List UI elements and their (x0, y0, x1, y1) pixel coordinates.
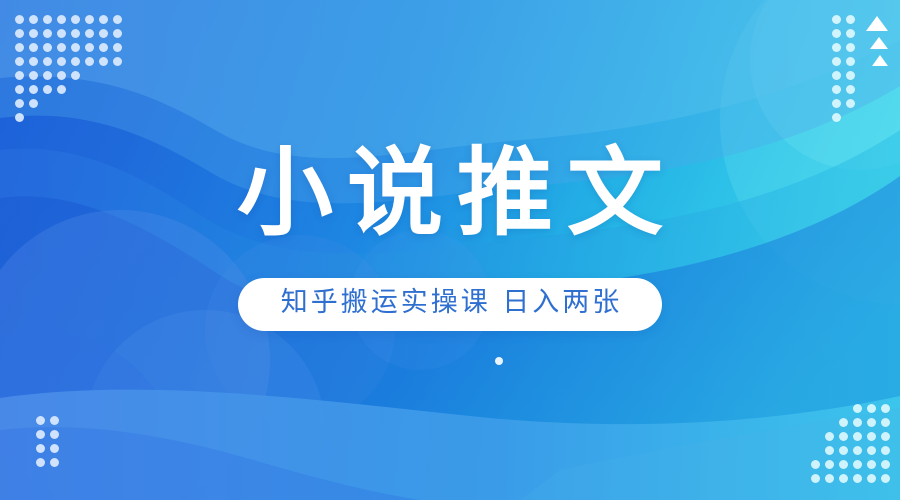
banner-title: 小说推文 (223, 143, 677, 244)
subtitle-text: 知乎搬运实操课 日入两张 (278, 287, 623, 319)
promo-banner: 小说推文 知乎搬运实操课 日入两张 (0, 0, 900, 500)
subtitle-pill: 知乎搬运实操课 日入两张 (238, 278, 663, 330)
banner-content: 小说推文 知乎搬运实操课 日入两张 (0, 0, 900, 500)
